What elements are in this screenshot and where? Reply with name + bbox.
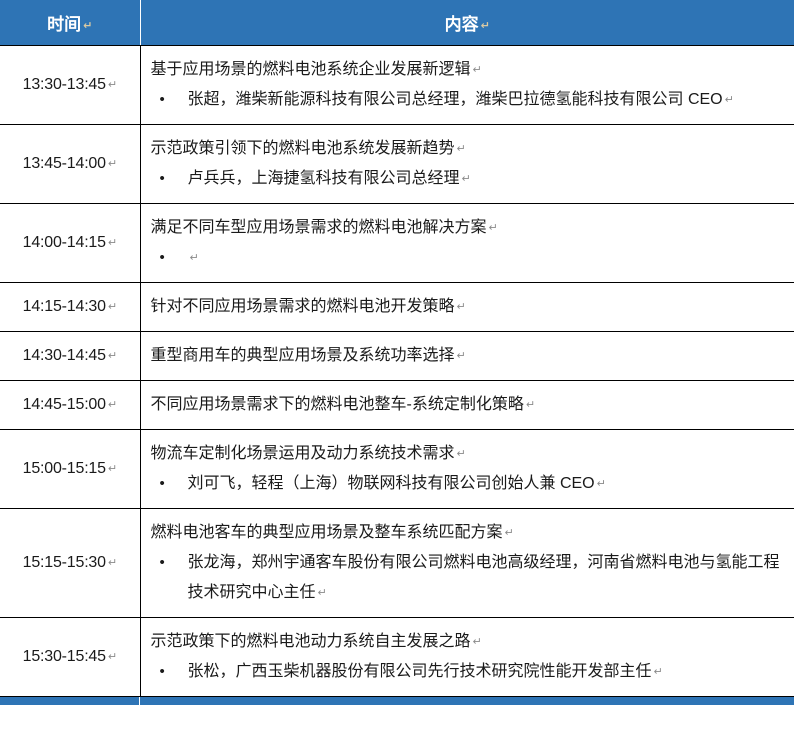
session-topic: 基于应用场景的燃料电池系统企业发展新逻辑↵ bbox=[151, 55, 789, 85]
bullet-icon: • bbox=[151, 548, 188, 578]
speaker-label: 卢兵兵，上海捷氢科技有限公司总经理↵ bbox=[188, 164, 789, 194]
session-topic: 不同应用场景需求下的燃料电池整车-系统定制化策略↵ bbox=[151, 390, 789, 420]
return-mark-icon: ↵ bbox=[455, 447, 466, 460]
column-header-time-label: 时间 bbox=[47, 10, 81, 35]
session-content-cell: 重型商用车的典型应用场景及系统功率选择↵ bbox=[140, 332, 794, 381]
table-row: 14:00-14:15↵满足不同车型应用场景需求的燃料电池解决方案↵•↵ bbox=[0, 204, 794, 283]
session-topic: 燃料电池客车的典型应用场景及整车系统匹配方案↵ bbox=[151, 518, 789, 548]
column-header-content: 内容↵ bbox=[140, 0, 794, 46]
return-mark-icon: ↵ bbox=[479, 19, 490, 32]
session-time-label: 14:15-14:30 bbox=[23, 298, 106, 315]
return-mark-icon: ↵ bbox=[471, 635, 482, 648]
return-mark-icon: ↵ bbox=[106, 462, 117, 475]
column-header-time: 时间↵ bbox=[0, 0, 140, 46]
session-content-cell: 针对不同应用场景需求的燃料电池开发策略↵ bbox=[140, 283, 794, 332]
return-mark-icon: ↵ bbox=[81, 19, 92, 32]
session-content-cell: 燃料电池客车的典型应用场景及整车系统匹配方案↵•张龙海，郑州宇通客车股份有限公司… bbox=[140, 509, 794, 618]
speaker-text: 张龙海，郑州宇通客车股份有限公司燃料电池高级经理，河南省燃料电池与氢能工程技术研… bbox=[188, 554, 780, 601]
speaker-bullet-item: •卢兵兵，上海捷氢科技有限公司总经理↵ bbox=[151, 164, 789, 194]
session-time-label: 13:45-14:00 bbox=[23, 155, 106, 172]
bullet-icon: • bbox=[151, 243, 188, 273]
agenda-table: 时间↵ 内容↵ 13:30-13:45↵基于应用场景的燃料电池系统企业发展新逻辑… bbox=[0, 0, 794, 697]
return-mark-icon: ↵ bbox=[188, 251, 199, 264]
session-time-cell: 14:30-14:45↵ bbox=[0, 332, 140, 381]
return-mark-icon: ↵ bbox=[455, 300, 466, 313]
next-section-time-cell bbox=[0, 697, 139, 705]
speaker-label: 张超，潍柴新能源科技有限公司总经理，潍柴巴拉德氢能科技有限公司 CEO↵ bbox=[188, 85, 789, 115]
speaker-text: 张松，广西玉柴机器股份有限公司先行技术研究院性能开发部主任 bbox=[188, 663, 652, 680]
session-time-label: 15:30-15:45 bbox=[23, 648, 106, 665]
table-row: 14:15-14:30↵针对不同应用场景需求的燃料电池开发策略↵ bbox=[0, 283, 794, 332]
speaker-bullet-item: •张超，潍柴新能源科技有限公司总经理，潍柴巴拉德氢能科技有限公司 CEO↵ bbox=[151, 85, 789, 115]
return-mark-icon: ↵ bbox=[595, 477, 606, 490]
return-mark-icon: ↵ bbox=[652, 665, 663, 678]
table-row: 14:45-15:00↵不同应用场景需求下的燃料电池整车-系统定制化策略↵ bbox=[0, 381, 794, 430]
session-topic-text: 重型商用车的典型应用场景及系统功率选择 bbox=[151, 347, 455, 364]
return-mark-icon: ↵ bbox=[106, 78, 117, 91]
session-time-cell: 14:00-14:15↵ bbox=[0, 204, 140, 283]
session-time-cell: 14:45-15:00↵ bbox=[0, 381, 140, 430]
session-content-cell: 示范政策下的燃料电池动力系统自主发展之路↵•张松，广西玉柴机器股份有限公司先行技… bbox=[140, 618, 794, 697]
bullet-icon: • bbox=[151, 85, 188, 115]
bullet-icon: • bbox=[151, 469, 188, 499]
return-mark-icon: ↵ bbox=[316, 586, 327, 599]
session-topic-text: 针对不同应用场景需求的燃料电池开发策略 bbox=[151, 298, 455, 315]
speaker-bullet-item: •↵ bbox=[151, 243, 789, 273]
speaker-bullet-item: •张松，广西玉柴机器股份有限公司先行技术研究院性能开发部主任↵ bbox=[151, 657, 789, 687]
session-topic: 针对不同应用场景需求的燃料电池开发策略↵ bbox=[151, 292, 789, 322]
speaker-label: 刘可飞，轻程（上海）物联网科技有限公司创始人兼 CEO↵ bbox=[188, 469, 789, 499]
session-topic: 示范政策引领下的燃料电池系统发展新趋势↵ bbox=[151, 134, 789, 164]
session-content-cell: 满足不同车型应用场景需求的燃料电池解决方案↵•↵ bbox=[140, 204, 794, 283]
session-topic: 重型商用车的典型应用场景及系统功率选择↵ bbox=[151, 341, 789, 371]
speaker-bullet-item: •刘可飞，轻程（上海）物联网科技有限公司创始人兼 CEO↵ bbox=[151, 469, 789, 499]
return-mark-icon: ↵ bbox=[106, 236, 117, 249]
session-time-label: 15:15-15:30 bbox=[23, 554, 106, 571]
session-topic: 物流车定制化场景运用及动力系统技术需求↵ bbox=[151, 439, 789, 469]
next-section-header-strip bbox=[0, 697, 794, 705]
speaker-label: 张松，广西玉柴机器股份有限公司先行技术研究院性能开发部主任↵ bbox=[188, 657, 789, 687]
return-mark-icon: ↵ bbox=[503, 526, 514, 539]
speaker-label: ↵ bbox=[188, 243, 789, 273]
table-row: 13:45-14:00↵示范政策引领下的燃料电池系统发展新趋势↵•卢兵兵，上海捷… bbox=[0, 125, 794, 204]
session-time-cell: 15:00-15:15↵ bbox=[0, 430, 140, 509]
return-mark-icon: ↵ bbox=[106, 349, 117, 362]
return-mark-icon: ↵ bbox=[723, 93, 734, 106]
speaker-text: 张超，潍柴新能源科技有限公司总经理，潍柴巴拉德氢能科技有限公司 CEO bbox=[188, 91, 723, 108]
spellcheck-underline: 物流车定制 bbox=[151, 445, 231, 462]
bullet-icon: • bbox=[151, 657, 188, 687]
session-topic-text: 不同应用场景需求下的燃料电池整车-系统定制化策略 bbox=[151, 396, 524, 413]
return-mark-icon: ↵ bbox=[106, 157, 117, 170]
session-topic-text: 示范政策引领下的燃料电池系统发展新趋势 bbox=[151, 140, 455, 157]
session-topic: 满足不同车型应用场景需求的燃料电池解决方案↵ bbox=[151, 213, 789, 243]
return-mark-icon: ↵ bbox=[460, 172, 471, 185]
return-mark-icon: ↵ bbox=[524, 398, 535, 411]
return-mark-icon: ↵ bbox=[106, 300, 117, 313]
return-mark-icon: ↵ bbox=[455, 349, 466, 362]
session-content-cell: 基于应用场景的燃料电池系统企业发展新逻辑↵•张超，潍柴新能源科技有限公司总经理，… bbox=[140, 46, 794, 125]
session-time-label: 14:30-14:45 bbox=[23, 347, 106, 364]
session-topic-text: 燃料电池客车的典型应用场景及整车系统匹配方案 bbox=[151, 524, 503, 541]
table-row: 15:15-15:30↵燃料电池客车的典型应用场景及整车系统匹配方案↵•张龙海，… bbox=[0, 509, 794, 618]
session-content-cell: 不同应用场景需求下的燃料电池整车-系统定制化策略↵ bbox=[140, 381, 794, 430]
session-topic: 示范政策下的燃料电池动力系统自主发展之路↵ bbox=[151, 627, 789, 657]
session-topic-text: 基于应用场景的燃料电池系统企业发展新逻辑 bbox=[151, 61, 471, 78]
return-mark-icon: ↵ bbox=[455, 142, 466, 155]
table-row: 15:30-15:45↵示范政策下的燃料电池动力系统自主发展之路↵•张松，广西玉… bbox=[0, 618, 794, 697]
session-time-cell: 14:15-14:30↵ bbox=[0, 283, 140, 332]
session-content-cell: 物流车定制化场景运用及动力系统技术需求↵•刘可飞，轻程（上海）物联网科技有限公司… bbox=[140, 430, 794, 509]
return-mark-icon: ↵ bbox=[106, 556, 117, 569]
column-header-content-label: 内容 bbox=[445, 10, 479, 35]
speaker-label: 张龙海，郑州宇通客车股份有限公司燃料电池高级经理，河南省燃料电池与氢能工程技术研… bbox=[188, 548, 789, 608]
table-header-row: 时间↵ 内容↵ bbox=[0, 0, 794, 46]
session-time-cell: 13:30-13:45↵ bbox=[0, 46, 140, 125]
session-time-label: 14:00-14:15 bbox=[23, 234, 106, 251]
session-time-label: 13:30-13:45 bbox=[23, 76, 106, 93]
session-topic-text: 示范政策下的燃料电池动力系统自主发展之路 bbox=[151, 633, 471, 650]
session-time-cell: 15:15-15:30↵ bbox=[0, 509, 140, 618]
session-topic-text: 满足不同车型应用场景需求的燃料电池解决方案 bbox=[151, 219, 487, 236]
session-time-cell: 13:45-14:00↵ bbox=[0, 125, 140, 204]
return-mark-icon: ↵ bbox=[471, 63, 482, 76]
return-mark-icon: ↵ bbox=[487, 221, 498, 234]
table-row: 15:00-15:15↵物流车定制化场景运用及动力系统技术需求↵•刘可飞，轻程（… bbox=[0, 430, 794, 509]
bullet-icon: • bbox=[151, 164, 188, 194]
session-time-cell: 15:30-15:45↵ bbox=[0, 618, 140, 697]
session-time-label: 15:00-15:15 bbox=[23, 460, 106, 477]
speaker-bullet-item: •张龙海，郑州宇通客车股份有限公司燃料电池高级经理，河南省燃料电池与氢能工程技术… bbox=[151, 548, 789, 608]
session-time-label: 14:45-15:00 bbox=[23, 396, 106, 413]
session-content-cell: 示范政策引领下的燃料电池系统发展新趋势↵•卢兵兵，上海捷氢科技有限公司总经理↵ bbox=[140, 125, 794, 204]
session-topic-text: 化场景运用及动力系统技术需求 bbox=[231, 445, 455, 462]
agenda-table-body: 13:30-13:45↵基于应用场景的燃料电池系统企业发展新逻辑↵•张超，潍柴新… bbox=[0, 46, 794, 697]
return-mark-icon: ↵ bbox=[106, 398, 117, 411]
next-section-content-cell bbox=[140, 697, 794, 705]
table-row: 14:30-14:45↵重型商用车的典型应用场景及系统功率选择↵ bbox=[0, 332, 794, 381]
speaker-text: 刘可飞，轻程（上海）物联网科技有限公司创始人兼 CEO bbox=[188, 475, 595, 492]
return-mark-icon: ↵ bbox=[106, 650, 117, 663]
table-row: 13:30-13:45↵基于应用场景的燃料电池系统企业发展新逻辑↵•张超，潍柴新… bbox=[0, 46, 794, 125]
speaker-text: 卢兵兵，上海捷氢科技有限公司总经理 bbox=[188, 170, 460, 187]
